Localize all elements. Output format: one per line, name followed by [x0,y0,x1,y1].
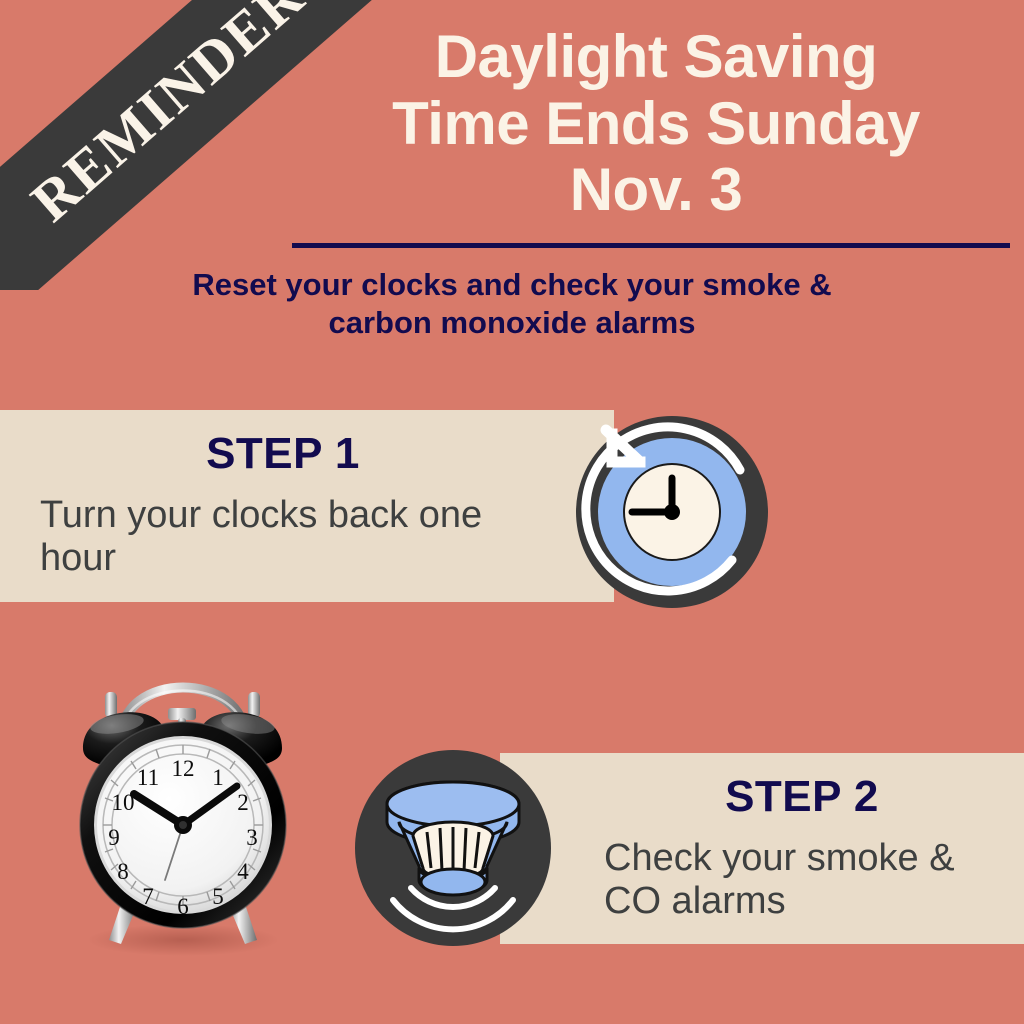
subtitle-line-1: Reset your clocks and check your smoke & [62,266,962,304]
step-1-heading: STEP 1 [40,432,526,476]
svg-text:9: 9 [108,825,120,850]
smoke-detector-icon [353,748,553,948]
step-2-heading: STEP 2 [604,775,1000,819]
poster-subtitle: Reset your clocks and check your smoke &… [62,266,962,342]
subtitle-line-2: carbon monoxide alarms [62,304,962,342]
step-2-content: STEP 2 Check your smoke & CO alarms [604,753,1000,944]
clock-rewind-icon [572,412,772,612]
step-1-band: STEP 1 Turn your clocks back one hour [0,410,614,602]
svg-text:4: 4 [237,859,249,884]
poster-title: Daylight Saving Time Ends Sunday Nov. 3 [300,24,1012,224]
step-2-description: Check your smoke & CO alarms [604,837,1000,922]
infographic-poster: REMINDER Daylight Saving Time Ends Sunda… [0,0,1024,1024]
title-line-1: Daylight Saving [300,24,1012,91]
step-1-description: Turn your clocks back one hour [40,494,526,579]
svg-text:12: 12 [172,756,195,781]
svg-text:3: 3 [246,825,258,850]
step-1-content: STEP 1 Turn your clocks back one hour [40,410,526,602]
title-line-3: Nov. 3 [300,157,1012,224]
svg-text:5: 5 [212,884,224,909]
svg-text:1: 1 [212,765,224,790]
step-2-band: STEP 2 Check your smoke & CO alarms [500,753,1024,944]
svg-text:2: 2 [237,790,249,815]
svg-text:8: 8 [117,859,129,884]
svg-text:7: 7 [142,884,154,909]
title-line-2: Time Ends Sunday [300,91,1012,158]
reminder-ribbon-label: REMINDER [21,0,314,232]
twin-bell-alarm-clock-photo: 12 1 2 3 4 5 6 7 8 9 10 11 [55,630,310,960]
svg-text:6: 6 [177,894,189,919]
svg-text:11: 11 [137,765,159,790]
title-divider [292,243,1010,248]
